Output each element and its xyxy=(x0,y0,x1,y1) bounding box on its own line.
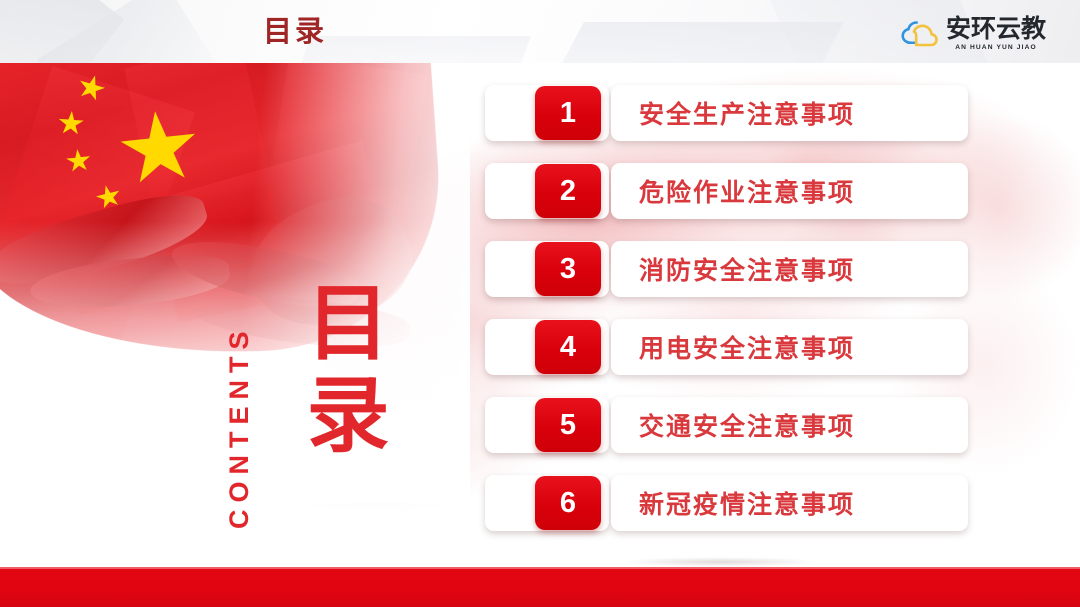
hero-title-en: CONTENTS xyxy=(224,259,254,529)
contents-item-label-card[interactable]: 新冠疫情注意事项 xyxy=(611,475,968,531)
slide-header: 目录 安环云教 AN HUAN YUN JIAO xyxy=(0,0,1080,63)
slide-body: 目 录 CONTENTS 1 安全生产注意事项 2 危险作业注意事项 xyxy=(0,63,1080,567)
contents-item-number: 4 xyxy=(535,320,601,374)
hero-title-char: 录 xyxy=(300,370,396,462)
contents-item-number: 6 xyxy=(535,476,601,530)
contents-item-label: 消防安全注意事项 xyxy=(639,251,855,287)
logo-subtitle: AN HUAN YUN JIAO xyxy=(955,43,1037,52)
footer-shadow-decoration xyxy=(620,557,820,567)
contents-item-label-card[interactable]: 危险作业注意事项 xyxy=(611,163,968,219)
hero-title-char: 目 xyxy=(300,278,396,370)
slide-footer-bar xyxy=(0,567,1080,607)
contents-item-label: 危险作业注意事项 xyxy=(639,173,855,209)
contents-item-label-card[interactable]: 安全生产注意事项 xyxy=(611,85,968,141)
contents-item-4[interactable]: 4 用电安全注意事项 xyxy=(485,319,975,375)
slide-contents-page: 目录 安环云教 AN HUAN YUN JIAO xyxy=(0,0,1080,607)
cloud-icon xyxy=(899,19,939,49)
contents-item-2[interactable]: 2 危险作业注意事项 xyxy=(485,163,975,219)
contents-item-label: 新冠疫情注意事项 xyxy=(639,485,855,521)
contents-menu: 1 安全生产注意事项 2 危险作业注意事项 3 消防安全注意事项 xyxy=(485,85,975,553)
contents-item-label: 交通安全注意事项 xyxy=(639,407,855,443)
contents-item-label: 安全生产注意事项 xyxy=(639,95,855,131)
logo-name: 安环云教 xyxy=(946,16,1046,43)
contents-item-5[interactable]: 5 交通安全注意事项 xyxy=(485,397,975,453)
page-title: 目录 xyxy=(0,16,590,48)
contents-item-label-card[interactable]: 交通安全注意事项 xyxy=(611,397,968,453)
contents-item-label-card[interactable]: 消防安全注意事项 xyxy=(611,241,968,297)
contents-item-number: 3 xyxy=(535,242,601,296)
contents-item-label-card[interactable]: 用电安全注意事项 xyxy=(611,319,968,375)
contents-item-3[interactable]: 3 消防安全注意事项 xyxy=(485,241,975,297)
brand-logo: 安环云教 AN HUAN YUN JIAO xyxy=(899,15,1046,53)
contents-item-6[interactable]: 6 新冠疫情注意事项 xyxy=(485,475,975,531)
contents-item-number: 2 xyxy=(535,164,601,218)
contents-item-label: 用电安全注意事项 xyxy=(639,329,855,365)
contents-item-1[interactable]: 1 安全生产注意事项 xyxy=(485,85,975,141)
contents-item-number: 1 xyxy=(535,86,601,140)
contents-item-number: 5 xyxy=(535,398,601,452)
hero-title-cn: 目 录 xyxy=(300,278,396,462)
